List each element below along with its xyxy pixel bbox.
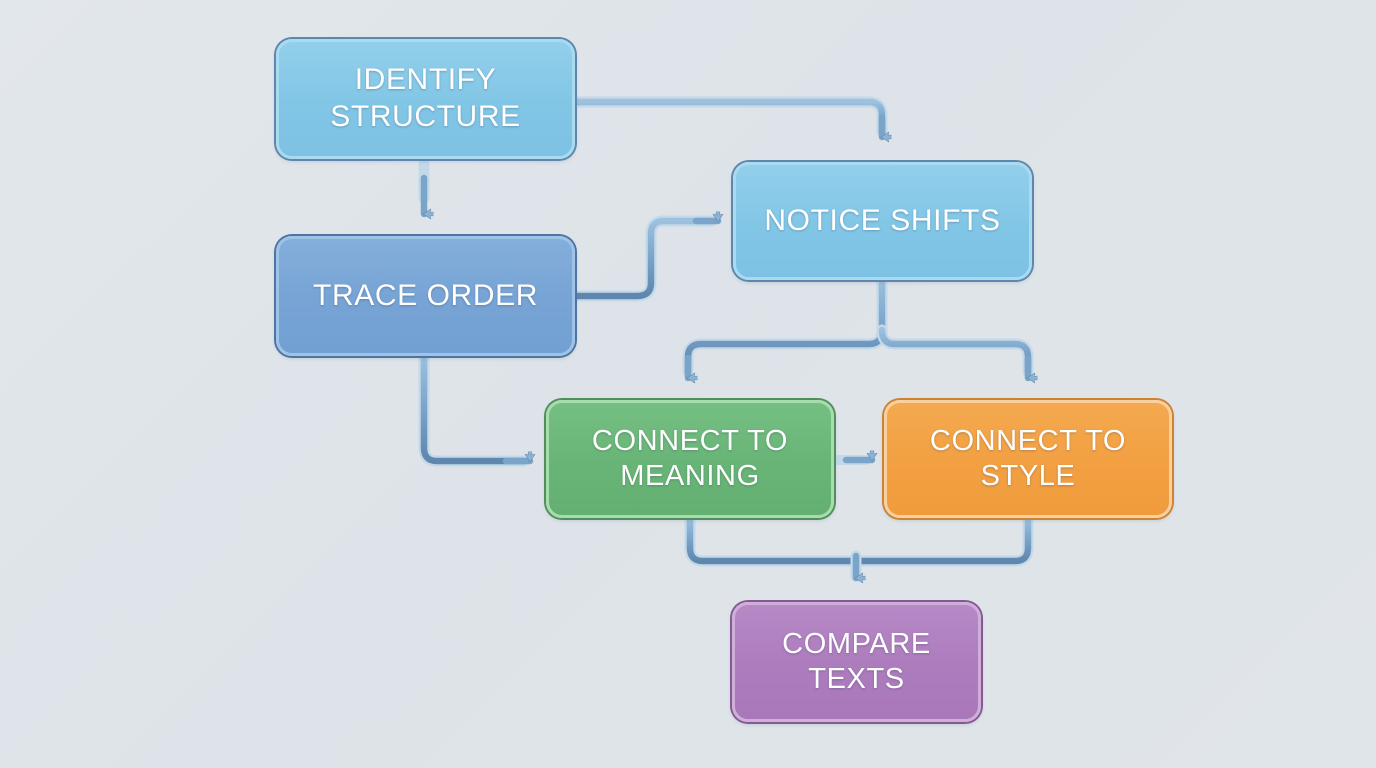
edge-trace-to-meaning <box>424 356 530 461</box>
edge-trace-to-notice <box>575 221 718 296</box>
flowchart-connectors <box>0 0 1376 768</box>
node-label: COMPARE TEXTS <box>768 627 945 698</box>
node-connect-to-meaning[interactable]: CONNECT TO MEANING <box>546 400 834 518</box>
node-label: IDENTIFY STRUCTURE <box>316 62 534 135</box>
node-identify-structure[interactable]: IDENTIFY STRUCTURE <box>276 39 575 159</box>
edge-merge-to-compare <box>690 518 1028 578</box>
edge-notice-split-bus <box>688 280 1028 372</box>
node-label: TRACE ORDER <box>299 278 552 315</box>
node-label: CONNECT TO STYLE <box>916 424 1140 495</box>
flowchart-canvas: IDENTIFY STRUCTURE TRACE ORDER NOTICE SH… <box>0 0 1376 768</box>
node-connect-to-style[interactable]: CONNECT TO STYLE <box>884 400 1172 518</box>
node-compare-texts[interactable]: COMPARE TEXTS <box>732 602 981 722</box>
edge-identify-to-notice <box>575 102 882 137</box>
node-label: NOTICE SHIFTS <box>750 203 1014 240</box>
node-trace-order[interactable]: TRACE ORDER <box>276 236 575 356</box>
node-notice-shifts[interactable]: NOTICE SHIFTS <box>733 162 1032 280</box>
node-label: CONNECT TO MEANING <box>578 424 802 495</box>
